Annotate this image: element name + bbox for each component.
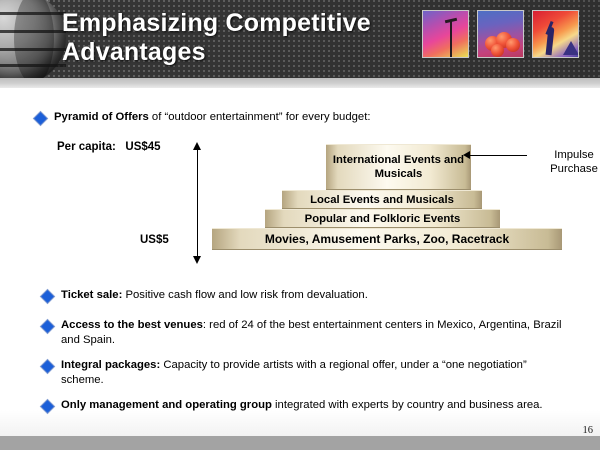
bullet-lead: Access to the best venues (61, 319, 203, 331)
fruit-icon (491, 44, 504, 57)
bullet-diamond-icon (41, 320, 54, 333)
bullet-text: Ticket sale: Positive cash flow and low … (61, 288, 368, 303)
arrow-head-down-icon (193, 256, 201, 264)
bullet-text: Access to the best venues: red of 24 of … (61, 318, 563, 347)
callout-arrow-shaft (469, 155, 527, 156)
lamppost-pole-icon (450, 21, 452, 57)
pyramid-level-international: International Events and Musicals (326, 144, 471, 190)
bullet-pyramid-of-offers: Pyramid of Offers of “outdoor entertainm… (36, 110, 536, 125)
bullet-lead: Ticket sale: (61, 289, 122, 301)
arrow-shaft (197, 147, 198, 259)
bullet-text: Pyramid of Offers of “outdoor entertainm… (54, 110, 370, 125)
price-scale-arrow-icon (191, 142, 205, 264)
bullet-lead: Pyramid of Offers (54, 111, 149, 123)
bullet-ticket-sale: Ticket sale: Positive cash flow and low … (43, 288, 563, 303)
globe-band (0, 64, 66, 67)
globe-band (0, 48, 66, 51)
bullet-integral-packages: Integral packages: Capacity to provide a… (43, 358, 553, 387)
pyramid-level-movies: Movies, Amusement Parks, Zoo, Racetrack (212, 228, 562, 250)
header-banner: Emphasizing Competitive Advantages (0, 0, 600, 78)
page-title: Emphasizing Competitive Advantages (62, 9, 432, 67)
pyramid-level-popular: Popular and Folkloric Events (265, 209, 500, 228)
footer-bar (0, 436, 600, 450)
header-divider (0, 78, 600, 88)
bullet-diamond-icon (34, 112, 47, 125)
bullet-diamond-icon (41, 290, 54, 303)
pyramid-level-local: Local Events and Musicals (282, 190, 482, 209)
bullet-diamond-icon (41, 360, 54, 373)
globe-band (0, 12, 66, 15)
bullet-lead: Integral packages: (61, 359, 160, 371)
slide: Emphasizing Competitive Advantages Pyram… (0, 0, 600, 450)
pyramid-diagram: Per capita: US$45 US$5 International Eve… (60, 138, 590, 273)
impulse-purchase-label: Impulse Purchase (539, 148, 600, 176)
bullet-rest: of “outdoor entertainment” for every bud… (149, 111, 371, 123)
mountain-peak-icon (563, 41, 579, 55)
globe-band (0, 30, 66, 33)
bullet-text: Integral packages: Capacity to provide a… (61, 358, 553, 387)
bullet-rest: Positive cash flow and low risk from dev… (122, 289, 368, 301)
fruit-icon (506, 38, 520, 52)
impulse-purchase-callout: Impulse Purchase (455, 148, 595, 184)
thumbnail-red-fruit (477, 10, 524, 58)
per-capita-low-label: US$5 (140, 234, 169, 246)
per-capita-label: Per capita: US$45 (57, 141, 161, 153)
globe-icon (0, 0, 66, 78)
footer-fade (0, 410, 600, 436)
bullet-access-best-venues: Access to the best venues: red of 24 of … (43, 318, 563, 347)
page-number: 16 (583, 425, 594, 436)
thumbnail-celebrating-figure (532, 10, 579, 58)
